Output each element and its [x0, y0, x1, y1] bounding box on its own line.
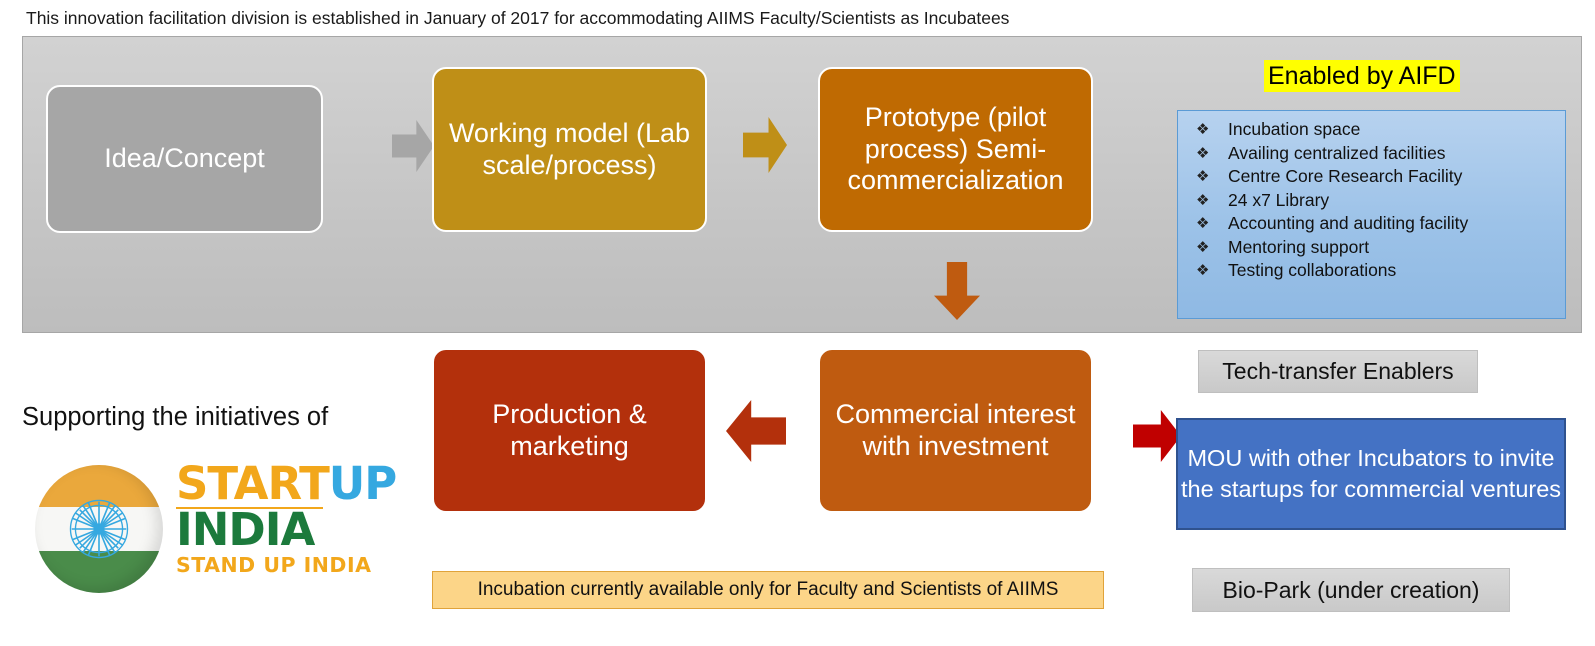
tech-transfer-enablers-heading: Tech-transfer Enablers [1198, 350, 1478, 393]
process-box-idea[interactable]: Idea/Concept [46, 85, 323, 233]
diamond-bullet-icon: ❖ [1196, 259, 1228, 283]
list-item-label: Availing centralized facilities [1228, 142, 1446, 166]
list-item-label: Accounting and auditing facility [1228, 212, 1468, 236]
logo-divider [176, 507, 323, 509]
startup-india-logo: STARTUP INDIA STAND UP INDIA [30, 455, 370, 605]
list-item-label: Mentoring support [1228, 236, 1369, 260]
logo-tagline: STAND UP INDIA [176, 553, 376, 577]
list-item: ❖ 24 x7 Library [1178, 189, 1565, 213]
logo-word-india: INDIA [176, 507, 376, 553]
list-item: ❖ Incubation space [1178, 118, 1565, 142]
logo-line-startup: STARTUP [176, 461, 376, 507]
startup-india-wordmark: STARTUP INDIA STAND UP INDIA [176, 461, 376, 577]
supporting-initiatives-label: Supporting the initiatives of [22, 400, 382, 434]
diamond-bullet-icon: ❖ [1196, 212, 1228, 236]
mou-incubators-box[interactable]: MOU with other Incubators to invite the … [1176, 418, 1566, 530]
process-box-production-marketing[interactable]: Production & marketing [432, 348, 707, 513]
process-box-working-model[interactable]: Working model (Lab scale/process) [432, 67, 707, 232]
diamond-bullet-icon: ❖ [1196, 236, 1228, 260]
list-item: ❖ Testing collaborations [1178, 259, 1565, 283]
diamond-bullet-icon: ❖ [1196, 189, 1228, 213]
process-box-commercial-interest[interactable]: Commercial interest with investment [818, 348, 1093, 513]
arrow-left-icon [726, 400, 786, 462]
india-flag-circle-icon [35, 465, 163, 593]
list-item-label: Centre Core Research Facility [1228, 165, 1462, 189]
enabled-by-aifd-title: Enabled by AIFD [1264, 60, 1460, 92]
list-item-label: 24 x7 Library [1228, 189, 1329, 213]
ashoka-chakra-icon [68, 498, 130, 560]
list-item: ❖ Centre Core Research Facility [1178, 165, 1565, 189]
process-box-prototype[interactable]: Prototype (pilot process) Semi-commercia… [818, 67, 1093, 232]
list-item-label: Incubation space [1228, 118, 1360, 142]
diamond-bullet-icon: ❖ [1196, 142, 1228, 166]
diamond-bullet-icon: ❖ [1196, 118, 1228, 142]
page-title: This innovation facilitation division is… [26, 5, 1126, 31]
bio-park-box: Bio-Park (under creation) [1192, 568, 1510, 612]
logo-word-up: UP [329, 457, 397, 510]
incubation-availability-note: Incubation currently available only for … [432, 571, 1104, 609]
list-item-label: Testing collaborations [1228, 259, 1396, 283]
arrow-right-icon [1133, 410, 1181, 462]
diamond-bullet-icon: ❖ [1196, 165, 1228, 189]
list-item: ❖ Availing centralized facilities [1178, 142, 1565, 166]
list-item: ❖ Mentoring support [1178, 236, 1565, 260]
aifd-facilities-list: ❖ Incubation space ❖ Availing centralize… [1177, 110, 1566, 319]
list-item: ❖ Accounting and auditing facility [1178, 212, 1565, 236]
